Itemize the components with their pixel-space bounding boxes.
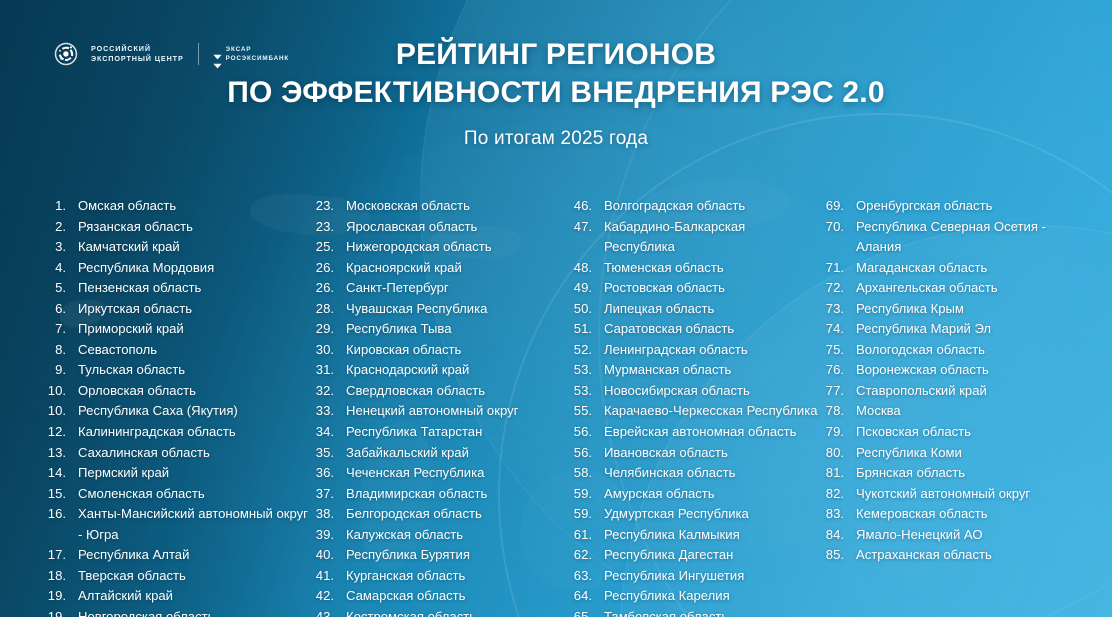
ranking-position: 74. [818, 319, 844, 340]
ranking-position: 23. [308, 217, 334, 238]
ranking-region-name: Тульская область [78, 360, 308, 381]
ranking-row: 19.Алтайский край [40, 586, 308, 607]
ranking-row: 64.Республика Карелия [566, 586, 818, 607]
ranking-row: 71.Магаданская область [818, 258, 1088, 279]
ranking-region-name: Ненецкий автономный округ [346, 401, 566, 422]
ranking-position: 12. [40, 422, 66, 443]
ranking-row: 2.Рязанская область [40, 217, 308, 238]
ranking-position: 53. [566, 360, 592, 381]
ranking-position: 43. [308, 607, 334, 617]
ranking-position: 58. [566, 463, 592, 484]
ranking-row: 56.Ивановская область [566, 443, 818, 464]
ranking-region-name: Саратовская область [604, 319, 818, 340]
ranking-position: 50. [566, 299, 592, 320]
ranking-position: 72. [818, 278, 844, 299]
ranking-row: 69.Оренбургская область [818, 196, 1088, 217]
ranking-region-name: Рязанская область [78, 217, 308, 238]
ranking-position: 77. [818, 381, 844, 402]
ranking-position: 3. [40, 237, 66, 258]
ranking-region-name: Республика Татарстан [346, 422, 566, 443]
ranking-row: 58.Челябинская область [566, 463, 818, 484]
ranking-position: 26. [308, 278, 334, 299]
ranking-row: 77.Ставропольский край [818, 381, 1088, 402]
ranking-region-name: Пермский край [78, 463, 308, 484]
ranking-row: 59.Удмуртская Республика [566, 504, 818, 525]
ranking-row: 42.Самарская область [308, 586, 566, 607]
ranking-position: 48. [566, 258, 592, 279]
poster-root: РОССИЙСКИЙ ЭКСПОРТНЫЙ ЦЕНТР ЭКСАР РО [0, 0, 1112, 617]
ranking-position: 14. [40, 463, 66, 484]
ranking-row: 76.Воронежская область [818, 360, 1088, 381]
ranking-row: 56.Еврейская автономная область [566, 422, 818, 443]
ranking-region-name: Владимирская область [346, 484, 566, 505]
ranking-position: 36. [308, 463, 334, 484]
ranking-row: 52.Ленинградская область [566, 340, 818, 361]
ranking-region-name: Камчатский край [78, 237, 308, 258]
ranking-row: 51.Саратовская область [566, 319, 818, 340]
ranking-row: 26.Красноярский край [308, 258, 566, 279]
ranking-row: 84.Ямало-Ненецкий АО [818, 525, 1088, 546]
ranking-region-name: Республика Марий Эл [856, 319, 1088, 340]
ranking-row: 28.Чувашская Республика [308, 299, 566, 320]
ranking-region-name: Омская область [78, 196, 308, 217]
ranking-row: 79.Псковская область [818, 422, 1088, 443]
ranking-position: 34. [308, 422, 334, 443]
ranking-region-name: Приморский край [78, 319, 308, 340]
ranking-region-name: Калининградская область [78, 422, 308, 443]
ranking-region-name: Тверская область [78, 566, 308, 587]
ranking-position: 40. [308, 545, 334, 566]
ranking-region-name: Ставропольский край [856, 381, 1088, 402]
ranking-row: 15.Смоленская область [40, 484, 308, 505]
ranking-row: 74.Республика Марий Эл [818, 319, 1088, 340]
ranking-region-name: Пензенская область [78, 278, 308, 299]
ranking-region-name: Ростовская область [604, 278, 818, 299]
ranking-position: 33. [308, 401, 334, 422]
ranking-row: 65.Тамбовская область [566, 607, 818, 617]
ranking-position: 28. [308, 299, 334, 320]
ranking-region-name: Республика Дагестан [604, 545, 818, 566]
ranking-region-name: Новосибирская область [604, 381, 818, 402]
ranking-region-name: Иркутская область [78, 299, 308, 320]
ranking-region-name: Республика Тыва [346, 319, 566, 340]
ranking-position: 23. [308, 196, 334, 217]
ranking-region-name: Забайкальский край [346, 443, 566, 464]
ranking-region-name: Краснодарский край [346, 360, 566, 381]
ranking-region-name: Брянская область [856, 463, 1088, 484]
ranking-region-name: Калужская область [346, 525, 566, 546]
ranking-row: 14.Пермский край [40, 463, 308, 484]
ranking-position: 26. [308, 258, 334, 279]
ranking-position: 63. [566, 566, 592, 587]
ranking-position: 81. [818, 463, 844, 484]
ranking-row: 32.Свердловская область [308, 381, 566, 402]
ranking-region-name: Республика Саха (Якутия) [78, 401, 308, 422]
ranking-row: 4.Республика Мордовия [40, 258, 308, 279]
ranking-region-name: Чукотский автономный округ [856, 484, 1088, 505]
ranking-region-name: Оренбургская область [856, 196, 1088, 217]
ranking-row: 17.Республика Алтай [40, 545, 308, 566]
ranking-position: 1. [40, 196, 66, 217]
ranking-row: 78.Москва [818, 401, 1088, 422]
ranking-position: 59. [566, 504, 592, 525]
ranking-region-name: Тюменская область [604, 258, 818, 279]
ranking-row: 75.Вологодская область [818, 340, 1088, 361]
ranking-region-name: Республика Северная Осетия - Алания [856, 217, 1088, 258]
ranking-position: 56. [566, 422, 592, 443]
page-subtitle: По итогам 2025 года [0, 128, 1112, 150]
ranking-row: 53.Мурманская область [566, 360, 818, 381]
ranking-position: 29. [308, 319, 334, 340]
ranking-region-name: Белгородская область [346, 504, 566, 525]
ranking-region-name: Ханты-Мансийский автономный округ - Югра [78, 504, 308, 545]
ranking-row: 40.Республика Бурятия [308, 545, 566, 566]
ranking-row: 61.Республика Калмыкия [566, 525, 818, 546]
ranking-region-name: Ивановская область [604, 443, 818, 464]
ranking-row: 48.Тюменская область [566, 258, 818, 279]
ranking-position: 82. [818, 484, 844, 505]
ranking-region-name: Красноярский край [346, 258, 566, 279]
ranking-region-name: Алтайский край [78, 586, 308, 607]
ranking-region-name: Республика Карелия [604, 586, 818, 607]
ranking-region-name: Архангельская область [856, 278, 1088, 299]
ranking-row: 72.Архангельская область [818, 278, 1088, 299]
ranking-row: 47.Кабардино-Балкарская Республика [566, 217, 818, 258]
ranking-row: 26.Санкт-Петербург [308, 278, 566, 299]
ranking-row: 6.Иркутская область [40, 299, 308, 320]
ranking-position: 80. [818, 443, 844, 464]
ranking-row: 29.Республика Тыва [308, 319, 566, 340]
ranking-region-name: Орловская область [78, 381, 308, 402]
ranking-position: 84. [818, 525, 844, 546]
ranking-position: 85. [818, 545, 844, 566]
ranking-row: 12.Калининградская область [40, 422, 308, 443]
ranking-region-name: Республика Бурятия [346, 545, 566, 566]
ranking-position: 64. [566, 586, 592, 607]
ranking-position: 16. [40, 504, 66, 525]
ranking-region-name: Московская область [346, 196, 566, 217]
ranking-region-name: Москва [856, 401, 1088, 422]
ranking-row: 19.Новгородская область [40, 607, 308, 617]
ranking-position: 4. [40, 258, 66, 279]
ranking-region-name: Псковская область [856, 422, 1088, 443]
ranking-position: 78. [818, 401, 844, 422]
ranking-position: 83. [818, 504, 844, 525]
ranking-row: 1.Омская область [40, 196, 308, 217]
ranking-position: 65. [566, 607, 592, 617]
ranking-row: 38.Белгородская область [308, 504, 566, 525]
ranking-position: 47. [566, 217, 592, 238]
ranking-region-name: Нижегородская область [346, 237, 566, 258]
ranking-region-name: Севастополь [78, 340, 308, 361]
ranking-region-name: Республика Коми [856, 443, 1088, 464]
ranking-row: 30.Кировская область [308, 340, 566, 361]
ranking-row: 33.Ненецкий автономный округ [308, 401, 566, 422]
ranking-region-name: Смоленская область [78, 484, 308, 505]
ranking-row: 50.Липецкая область [566, 299, 818, 320]
ranking-row: 13.Сахалинская область [40, 443, 308, 464]
ranking-position: 41. [308, 566, 334, 587]
ranking-region-name: Республика Калмыкия [604, 525, 818, 546]
ranking-region-name: Костромская область [346, 607, 566, 617]
ranking-position: 15. [40, 484, 66, 505]
ranking-position: 38. [308, 504, 334, 525]
ranking-row: 83.Кемеровская область [818, 504, 1088, 525]
ranking-column-3: 46.Волгоградская область47.Кабардино-Бал… [566, 196, 818, 617]
ranking-row: 49.Ростовская область [566, 278, 818, 299]
ranking-region-name: Новгородская область [78, 607, 308, 617]
ranking-position: 19. [40, 607, 66, 617]
ranking-row: 62.Республика Дагестан [566, 545, 818, 566]
ranking-region-name: Санкт-Петербург [346, 278, 566, 299]
ranking-row: 85.Астраханская область [818, 545, 1088, 566]
ranking-region-name: Амурская область [604, 484, 818, 505]
ranking-position: 52. [566, 340, 592, 361]
ranking-position: 70. [818, 217, 844, 238]
ranking-row: 53.Новосибирская область [566, 381, 818, 402]
ranking-position: 39. [308, 525, 334, 546]
ranking-row: 41.Курганская область [308, 566, 566, 587]
ranking-position: 73. [818, 299, 844, 320]
ranking-row: 8.Севастополь [40, 340, 308, 361]
ranking-region-name: Тамбовская область [604, 607, 818, 617]
ranking-region-name: Ярославская область [346, 217, 566, 238]
ranking-region-name: Чеченская Республика [346, 463, 566, 484]
ranking-position: 37. [308, 484, 334, 505]
ranking-position: 31. [308, 360, 334, 381]
ranking-position: 30. [308, 340, 334, 361]
ranking-region-name: Воронежская область [856, 360, 1088, 381]
ranking-row: 70.Республика Северная Осетия - Алания [818, 217, 1088, 258]
ranking-row: 23.Ярославская область [308, 217, 566, 238]
ranking-row: 82.Чукотский автономный округ [818, 484, 1088, 505]
ranking-row: 34.Республика Татарстан [308, 422, 566, 443]
ranking-region-name: Кировская область [346, 340, 566, 361]
ranking-position: 61. [566, 525, 592, 546]
ranking-row: 25.Нижегородская область [308, 237, 566, 258]
ranking-region-name: Карачаево-Черкесская Республика [604, 401, 818, 422]
ranking-column-1: 1.Омская область2.Рязанская область3.Кам… [40, 196, 308, 617]
ranking-row: 18.Тверская область [40, 566, 308, 587]
ranking-row: 9.Тульская область [40, 360, 308, 381]
ranking-row: 7.Приморский край [40, 319, 308, 340]
ranking-position: 42. [308, 586, 334, 607]
ranking-position: 56. [566, 443, 592, 464]
ranking-region-name: Чувашская Республика [346, 299, 566, 320]
ranking-position: 69. [818, 196, 844, 217]
ranking-region-name: Курганская область [346, 566, 566, 587]
ranking-position: 35. [308, 443, 334, 464]
ranking-position: 6. [40, 299, 66, 320]
ranking-row: 35.Забайкальский край [308, 443, 566, 464]
ranking-position: 7. [40, 319, 66, 340]
ranking-row: 63.Республика Ингушетия [566, 566, 818, 587]
ranking-position: 49. [566, 278, 592, 299]
ranking-row: 46.Волгоградская область [566, 196, 818, 217]
ranking-row: 73.Республика Крым [818, 299, 1088, 320]
ranking-position: 10. [40, 401, 66, 422]
ranking-position: 18. [40, 566, 66, 587]
ranking-row: 37.Владимирская область [308, 484, 566, 505]
ranking-position: 5. [40, 278, 66, 299]
ranking-region-name: Астраханская область [856, 545, 1088, 566]
ranking-region-name: Мурманская область [604, 360, 818, 381]
ranking-row: 39.Калужская область [308, 525, 566, 546]
ranking-region-name: Волгоградская область [604, 196, 818, 217]
ranking-region-name: Липецкая область [604, 299, 818, 320]
ranking-position: 13. [40, 443, 66, 464]
ranking-row: 16.Ханты-Мансийский автономный округ - Ю… [40, 504, 308, 545]
ranking-position: 55. [566, 401, 592, 422]
ranking-row: 43.Костромская область [308, 607, 566, 617]
ranking-position: 8. [40, 340, 66, 361]
ranking-position: 53. [566, 381, 592, 402]
ranking-row: 31.Краснодарский край [308, 360, 566, 381]
ranking-region-name: Удмуртская Республика [604, 504, 818, 525]
ranking-region-name: Республика Алтай [78, 545, 308, 566]
ranking-region-name: Ленинградская область [604, 340, 818, 361]
ranking-position: 9. [40, 360, 66, 381]
ranking-region-name: Республика Крым [856, 299, 1088, 320]
ranking-row: 5.Пензенская область [40, 278, 308, 299]
ranking-position: 17. [40, 545, 66, 566]
page-title: РЕЙТИНГ РЕГИОНОВ ПО ЭФФЕКТИВНОСТИ ВНЕДРЕ… [0, 36, 1112, 111]
ranking-region-name: Республика Мордовия [78, 258, 308, 279]
page-title-line1: РЕЙТИНГ РЕГИОНОВ [396, 38, 716, 71]
ranking-region-name: Челябинская область [604, 463, 818, 484]
ranking-row: 23.Московская область [308, 196, 566, 217]
ranking-row: 81.Брянская область [818, 463, 1088, 484]
ranking-row: 36.Чеченская Республика [308, 463, 566, 484]
ranking-row: 10.Орловская область [40, 381, 308, 402]
ranking-region-name: Сахалинская область [78, 443, 308, 464]
ranking-position: 51. [566, 319, 592, 340]
ranking-column-2: 23.Московская область23.Ярославская обла… [308, 196, 566, 617]
ranking-position: 62. [566, 545, 592, 566]
ranking-row: 80.Республика Коми [818, 443, 1088, 464]
ranking-position: 2. [40, 217, 66, 238]
ranking-row: 3.Камчатский край [40, 237, 308, 258]
ranking-region-name: Самарская область [346, 586, 566, 607]
ranking-row: 55.Карачаево-Черкесская Республика [566, 401, 818, 422]
ranking-region-name: Свердловская область [346, 381, 566, 402]
ranking-position: 19. [40, 586, 66, 607]
ranking-position: 10. [40, 381, 66, 402]
ranking-region-name: Вологодская область [856, 340, 1088, 361]
ranking-position: 75. [818, 340, 844, 361]
ranking-region-name: Еврейская автономная область [604, 422, 818, 443]
ranking-position: 32. [308, 381, 334, 402]
ranking-position: 46. [566, 196, 592, 217]
ranking-position: 71. [818, 258, 844, 279]
page-title-line2: ПО ЭФФЕКТИВНОСТИ ВНЕДРЕНИЯ РЭС 2.0 [60, 74, 1052, 112]
ranking-region-name: Магаданская область [856, 258, 1088, 279]
ranking-region-name: Кабардино-Балкарская Республика [604, 217, 818, 258]
ranking-position: 25. [308, 237, 334, 258]
ranking-region-name: Республика Ингушетия [604, 566, 818, 587]
ranking-row: 59.Амурская область [566, 484, 818, 505]
ranking-region-name: Ямало-Ненецкий АО [856, 525, 1088, 546]
ranking-row: 10.Республика Саха (Якутия) [40, 401, 308, 422]
ranking-column-4: 69.Оренбургская область70.Республика Сев… [818, 196, 1088, 566]
ranking-position: 79. [818, 422, 844, 443]
ranking-columns: 1.Омская область2.Рязанская область3.Кам… [40, 196, 1090, 617]
ranking-region-name: Кемеровская область [856, 504, 1088, 525]
ranking-position: 76. [818, 360, 844, 381]
ranking-position: 59. [566, 484, 592, 505]
